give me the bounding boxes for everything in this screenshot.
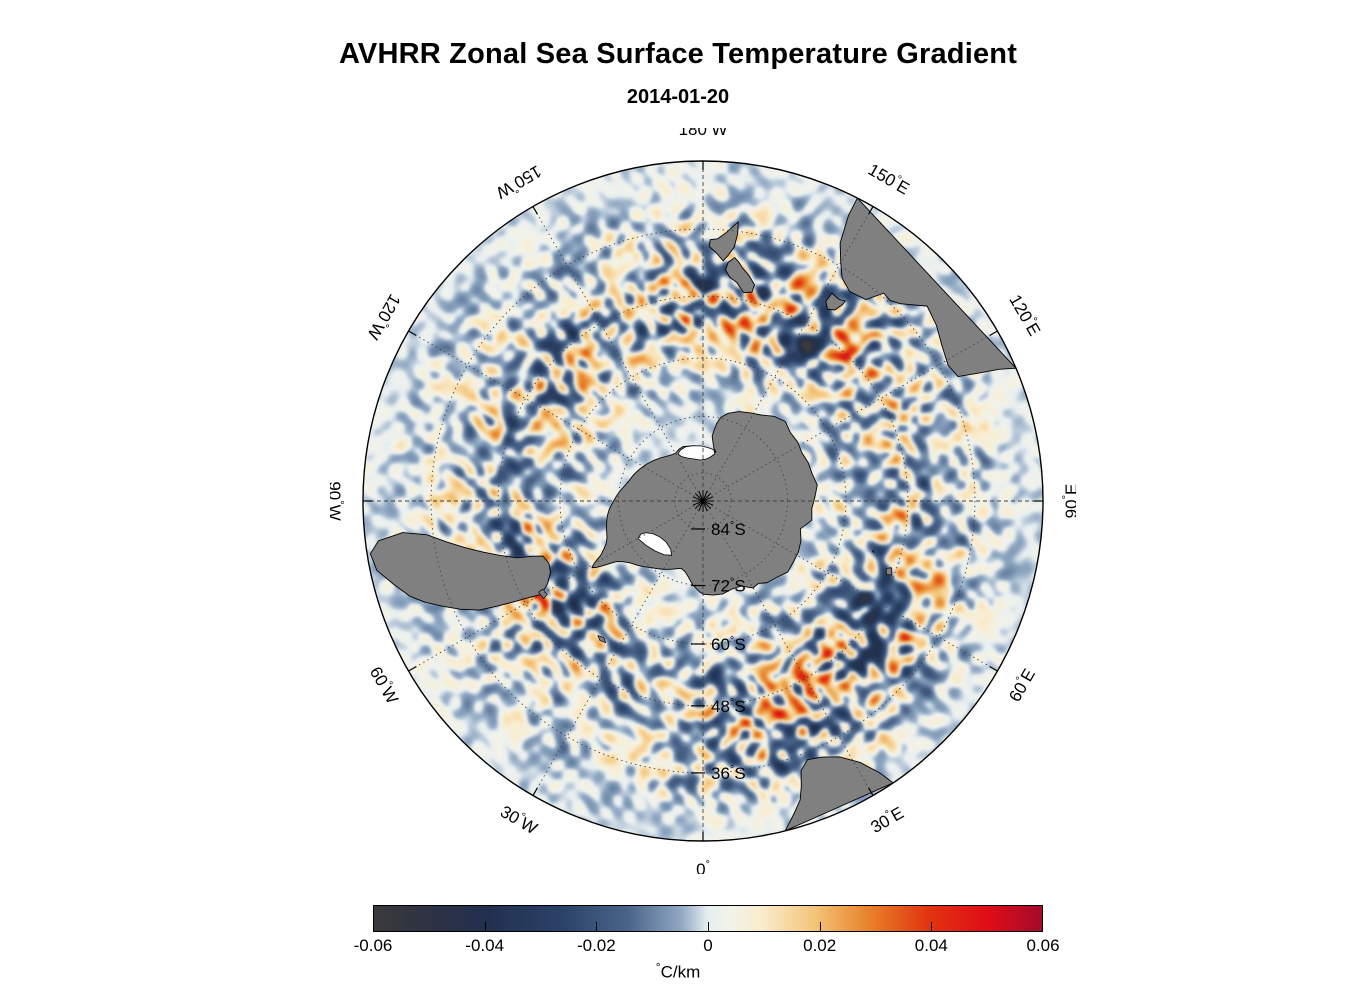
latitude-label: 72°S bbox=[711, 577, 746, 596]
svg-text:150°W: 150°W bbox=[493, 161, 546, 203]
longitude-label: 0° bbox=[696, 859, 710, 874]
svg-text:60°W: 60°W bbox=[365, 663, 403, 707]
svg-text:90°W: 90°W bbox=[330, 481, 345, 520]
longitude-label: 120°E bbox=[1005, 291, 1045, 340]
longitude-label: 30°E bbox=[867, 802, 907, 837]
latitude-label: 60°S bbox=[711, 635, 746, 654]
colorbar-tick bbox=[596, 922, 597, 932]
svg-text:120°W: 120°W bbox=[363, 291, 405, 344]
latitude-label: 36°S bbox=[711, 764, 746, 783]
colorbar-tick bbox=[708, 922, 709, 932]
colorbar-tick-label: 0.06 bbox=[1026, 936, 1059, 956]
colorbar-tick-label: 0.04 bbox=[915, 936, 948, 956]
longitude-label: 150°E bbox=[865, 159, 914, 199]
svg-text:30°E: 30°E bbox=[867, 802, 907, 837]
longitude-label: 180°W bbox=[679, 128, 728, 139]
svg-text:150°E: 150°E bbox=[865, 159, 914, 199]
longitude-label: 120°W bbox=[363, 291, 405, 344]
unit-text: C/km bbox=[661, 963, 701, 982]
colorbar-unit-label: °C/km bbox=[0, 960, 1356, 983]
svg-text:30°W: 30°W bbox=[497, 801, 541, 839]
svg-text:180°W: 180°W bbox=[679, 128, 728, 139]
svg-text:90°E: 90°E bbox=[1061, 484, 1076, 519]
colorbar-tick-label: -0.02 bbox=[577, 936, 616, 956]
polar-map: 0°30°E60°E90°E120°E150°E180°W150°W120°W9… bbox=[330, 128, 1076, 874]
colorbar-tick bbox=[820, 922, 821, 932]
colorbar-tick-label: -0.06 bbox=[354, 936, 393, 956]
svg-text:120°E: 120°E bbox=[1005, 291, 1045, 340]
longitude-label: 60°E bbox=[1004, 665, 1039, 705]
longitude-label: 150°W bbox=[493, 161, 546, 203]
colorbar-tick-label: -0.04 bbox=[465, 936, 504, 956]
polar-map-svg: 0°30°E60°E90°E120°E150°E180°W150°W120°W9… bbox=[330, 128, 1076, 874]
page-subtitle: 2014-01-20 bbox=[0, 86, 1356, 109]
longitude-label: 90°W bbox=[330, 481, 345, 520]
svg-text:60°E: 60°E bbox=[1004, 665, 1039, 705]
longitude-label: 30°W bbox=[497, 801, 541, 839]
colorbar-tick bbox=[931, 922, 932, 932]
colorbar-group: -0.06-0.04-0.0200.020.040.06 °C/km bbox=[0, 900, 1356, 1000]
svg-text:0°: 0° bbox=[696, 859, 710, 874]
colorbar-tick bbox=[485, 922, 486, 932]
latitude-label: 48°S bbox=[711, 697, 746, 716]
longitude-label: 60°W bbox=[365, 663, 403, 707]
colorbar-tick-label: 0.02 bbox=[803, 936, 836, 956]
landmass-kerguelen bbox=[886, 568, 891, 575]
longitude-label: 90°E bbox=[1061, 484, 1076, 519]
colorbar-tick-label: 0 bbox=[703, 936, 712, 956]
figure-root: AVHRR Zonal Sea Surface Temperature Grad… bbox=[0, 0, 1356, 1000]
latitude-label: 84°S bbox=[711, 520, 746, 539]
page-title: AVHRR Zonal Sea Surface Temperature Grad… bbox=[0, 38, 1356, 71]
